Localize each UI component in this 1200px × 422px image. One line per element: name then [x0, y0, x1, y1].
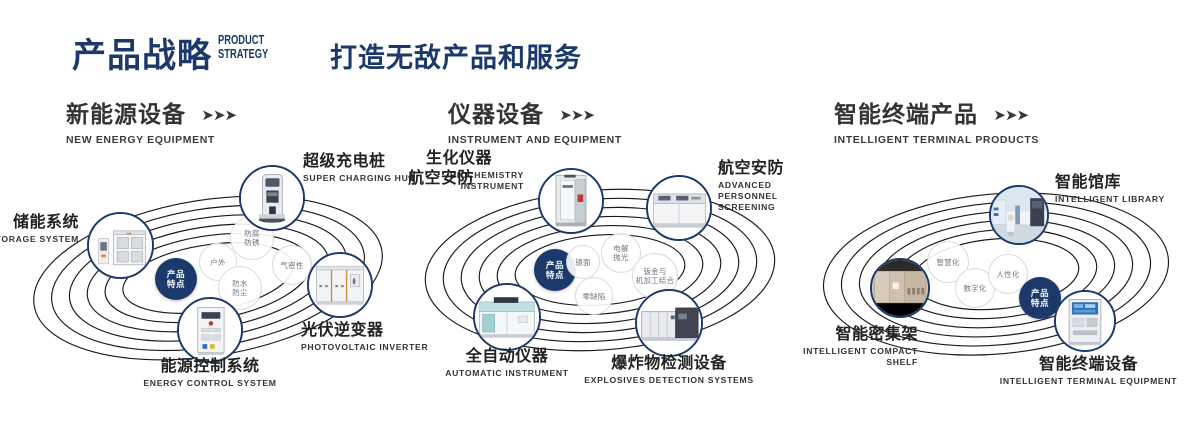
node-personnel-screening[interactable] [646, 175, 712, 241]
energy-storage-cabinet-icon [89, 214, 152, 277]
chevron-right-icon: ➤➤➤ [559, 106, 594, 124]
node-intelligent-library[interactable] [989, 185, 1049, 245]
node-label-en: INTELLIGENT COMPACT SHELF [786, 346, 918, 368]
section-title-cn: 新能源设备 ➤➤➤ [66, 95, 236, 129]
node-explosives-detection[interactable] [635, 289, 703, 357]
section-title-instrument: 仪器设备 ➤➤➤ INSTRUMENT AND EQUIPMENT [448, 95, 622, 146]
node-label-en: ENERGY CONTROL SYSTEM [125, 378, 295, 389]
self-service-kiosk-icon [1056, 292, 1114, 350]
node-label-cn: 能源控制系统 [125, 358, 295, 376]
section-title-cn: 仪器设备 ➤➤➤ [448, 95, 622, 129]
page-slogan: 打造无敌产品和服务 [330, 36, 582, 75]
node-label-en: EXPLOSIVES DETECTION SYSTEMS [584, 375, 754, 386]
section-title-en: NEW ENERGY EQUIPMENT [66, 134, 236, 146]
section-title-cn-text: 仪器设备 [448, 101, 544, 127]
node-label-en: INTELLIGENT LIBRARY [1055, 194, 1165, 205]
node-label-cn: 智能馆库 [1055, 174, 1165, 192]
page-header: 产品战略 PRODUCT STRATEGY 打造无敌产品和服务 [0, 0, 1200, 88]
node-label-compact-shelf: 智能密集架 INTELLIGENT COMPACT SHELF [740, 326, 918, 368]
feature-bubble-4: 气密性 [272, 245, 312, 285]
node-label-en: ADVANCED PERSONNEL SCREENING [718, 180, 800, 213]
node-label-personnel-screening: 航空安防 ADVANCED PERSONNEL SCREENING [718, 160, 800, 213]
section-title-cn-text: 新能源设备 [66, 101, 186, 127]
explosive-detector-icon [637, 291, 701, 355]
chevron-right-icon: ➤➤➤ [993, 106, 1028, 124]
node-label-charging-hub: 超级充电桩 SUPER CHARGING HUB [303, 153, 415, 184]
compact-shelf-icon [872, 260, 928, 316]
section-title-new-energy: 新能源设备 ➤➤➤ NEW ENERGY EQUIPMENT [66, 95, 236, 146]
charging-pile-icon [241, 167, 303, 229]
node-label-cn: 爆炸物检测设备 [584, 355, 754, 373]
security-scanner-gate-icon [540, 170, 602, 232]
node-energy-control[interactable] [177, 297, 243, 363]
section-title-cn-text: 智能终端产品 [834, 101, 978, 127]
node-label-energy-storage: 储能系统 ENERGY STORAGE SYSTEM [0, 214, 79, 245]
node-automatic-instrument[interactable] [473, 283, 541, 351]
node-label-en: INTELLIGENT TERMINAL EQUIPMENT [996, 376, 1181, 387]
control-cabinet-icon [179, 299, 241, 361]
node-label-cn: 超级充电桩 [303, 153, 415, 171]
product-strategy-infographic: 产品战略 PRODUCT STRATEGY 打造无敌产品和服务 新能源设备 ➤➤… [0, 0, 1200, 422]
section-title-intelligent-terminal: 智能终端产品 ➤➤➤ INTELLIGENT TERMINAL PRODUCTS [834, 95, 1039, 146]
automatic-analyzer-icon [475, 285, 539, 349]
cluster-new-energy: 产品特点 户外 防腐防锈 防水防尘 气密性 储能系统 [10, 150, 410, 400]
section-title-en: INSTRUMENT AND EQUIPMENT [448, 134, 622, 146]
node-label-en: ENERGY STORAGE SYSTEM [0, 234, 79, 245]
page-title: 产品战略 [72, 28, 212, 77]
node-label-cn: 智能终端设备 [996, 356, 1181, 374]
node-label-intelligent-library: 智能馆库 INTELLIGENT LIBRARY [1055, 174, 1165, 205]
node-compact-shelf[interactable] [870, 258, 930, 318]
feature-center-text: 产品特点 [546, 260, 564, 280]
node-energy-storage[interactable] [87, 212, 154, 279]
section-title-cn: 智能终端产品 ➤➤➤ [834, 95, 1039, 129]
node-label-cn: 储能系统 [0, 214, 79, 232]
node-label-en: SUPER CHARGING HUB [303, 173, 415, 184]
feature-bubble-1: 镜面 [566, 245, 600, 279]
feature-center-text: 产品特点 [167, 269, 185, 289]
cluster-intelligent-terminal: 智慧化 数字化 人性化 产品特点 [800, 150, 1200, 400]
node-label-terminal-equipment: 智能终端设备 INTELLIGENT TERMINAL EQUIPMENT [996, 356, 1181, 387]
page-title-en: PRODUCT STRATEGY [218, 33, 268, 61]
node-label-cn: 生化仪器 [426, 150, 524, 168]
section-title-en: INTELLIGENT TERMINAL PRODUCTS [834, 134, 1039, 146]
page-title-en-line1: PRODUCT [218, 33, 268, 47]
page-title-en-line2: STRATEGY [218, 47, 268, 61]
screening-machine-icon [648, 177, 710, 239]
node-biochemistry-instrument[interactable] [538, 168, 604, 234]
node-label-energy-control: 能源控制系统 ENERGY CONTROL SYSTEM [125, 358, 295, 389]
node-label-cn: 全自动仪器 [422, 348, 592, 366]
feature-center-badge: 产品特点 [155, 258, 197, 300]
feature-center-text: 产品特点 [1031, 288, 1049, 308]
node-label-automatic-instrument: 全自动仪器 AUTOMATIC INSTRUMENT [422, 348, 592, 379]
node-label-en: AUTOMATIC INSTRUMENT [422, 368, 592, 379]
node-label-cn: 航空安防 [718, 160, 800, 178]
chevron-right-icon: ➤➤➤ [201, 106, 236, 124]
node-label-cn: 智能密集架 [740, 326, 918, 344]
node-pv-inverter[interactable] [307, 252, 373, 318]
node-charging-hub[interactable] [239, 165, 305, 231]
node-label-aviation-security: 航空安防 [408, 170, 474, 188]
inverter-cabinet-icon [309, 254, 371, 316]
feature-bubble-4: 零缺陷 [575, 277, 613, 315]
node-label-explosives-detection: 爆炸物检测设备 EXPLOSIVES DETECTION SYSTEMS [584, 355, 754, 386]
node-label-cn: 航空安防 [408, 170, 474, 188]
library-interior-icon [991, 187, 1047, 243]
node-terminal-equipment[interactable] [1054, 290, 1116, 352]
